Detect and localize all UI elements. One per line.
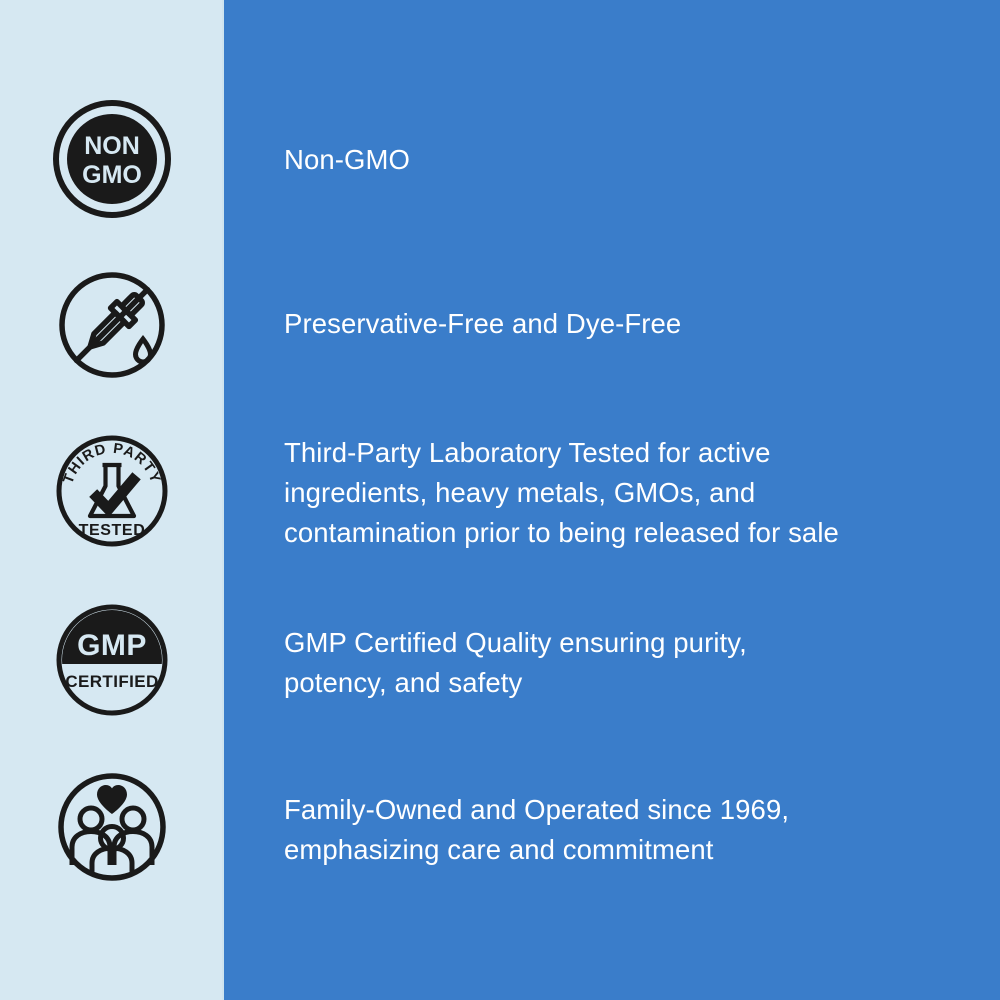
family-owned-icon <box>0 764 224 890</box>
feature-text-line: Third-Party Laboratory Tested for active <box>284 433 970 473</box>
feature-text-line: Family-Owned and Operated since 1969, <box>284 790 970 830</box>
certified-label: CERTIFIED <box>65 672 158 691</box>
feature-text-line: potency, and safety <box>284 663 970 703</box>
third-party-tested-badge-icon: THIRD PARTY TESTED <box>0 428 224 554</box>
feature-text: GMP Certified Quality ensuring purity, p… <box>284 623 970 703</box>
heart-icon <box>97 785 127 814</box>
gmp-label: GMP <box>77 629 147 662</box>
feature-text-line: emphasizing care and commitment <box>284 830 970 870</box>
product-trust-badges-page: NON GMO Non-GMO <box>0 0 1000 1000</box>
feature-text: Preservative-Free and Dye-Free <box>284 304 970 344</box>
no-dropper-icon <box>0 262 224 388</box>
feature-text-line: Preservative-Free and Dye-Free <box>284 304 970 344</box>
non-gmo-line1: NON <box>84 132 140 160</box>
gmp-certified-badge-icon: GMP CERTIFIED <box>0 597 224 723</box>
non-gmo-line2: GMO <box>82 161 142 189</box>
non-gmo-badge-icon: NON GMO <box>0 96 224 222</box>
feature-text-line: Non-GMO <box>284 140 970 180</box>
feature-text: Third-Party Laboratory Tested for active… <box>284 433 970 553</box>
feature-text: Non-GMO <box>284 140 970 180</box>
feature-text-line: ingredients, heavy metals, GMOs, and <box>284 473 970 513</box>
feature-text: Family-Owned and Operated since 1969, em… <box>284 790 970 870</box>
feature-text-line: contamination prior to being released fo… <box>284 513 970 553</box>
feature-text-line: GMP Certified Quality ensuring purity, <box>284 623 970 663</box>
tested-label: TESTED <box>79 522 146 539</box>
